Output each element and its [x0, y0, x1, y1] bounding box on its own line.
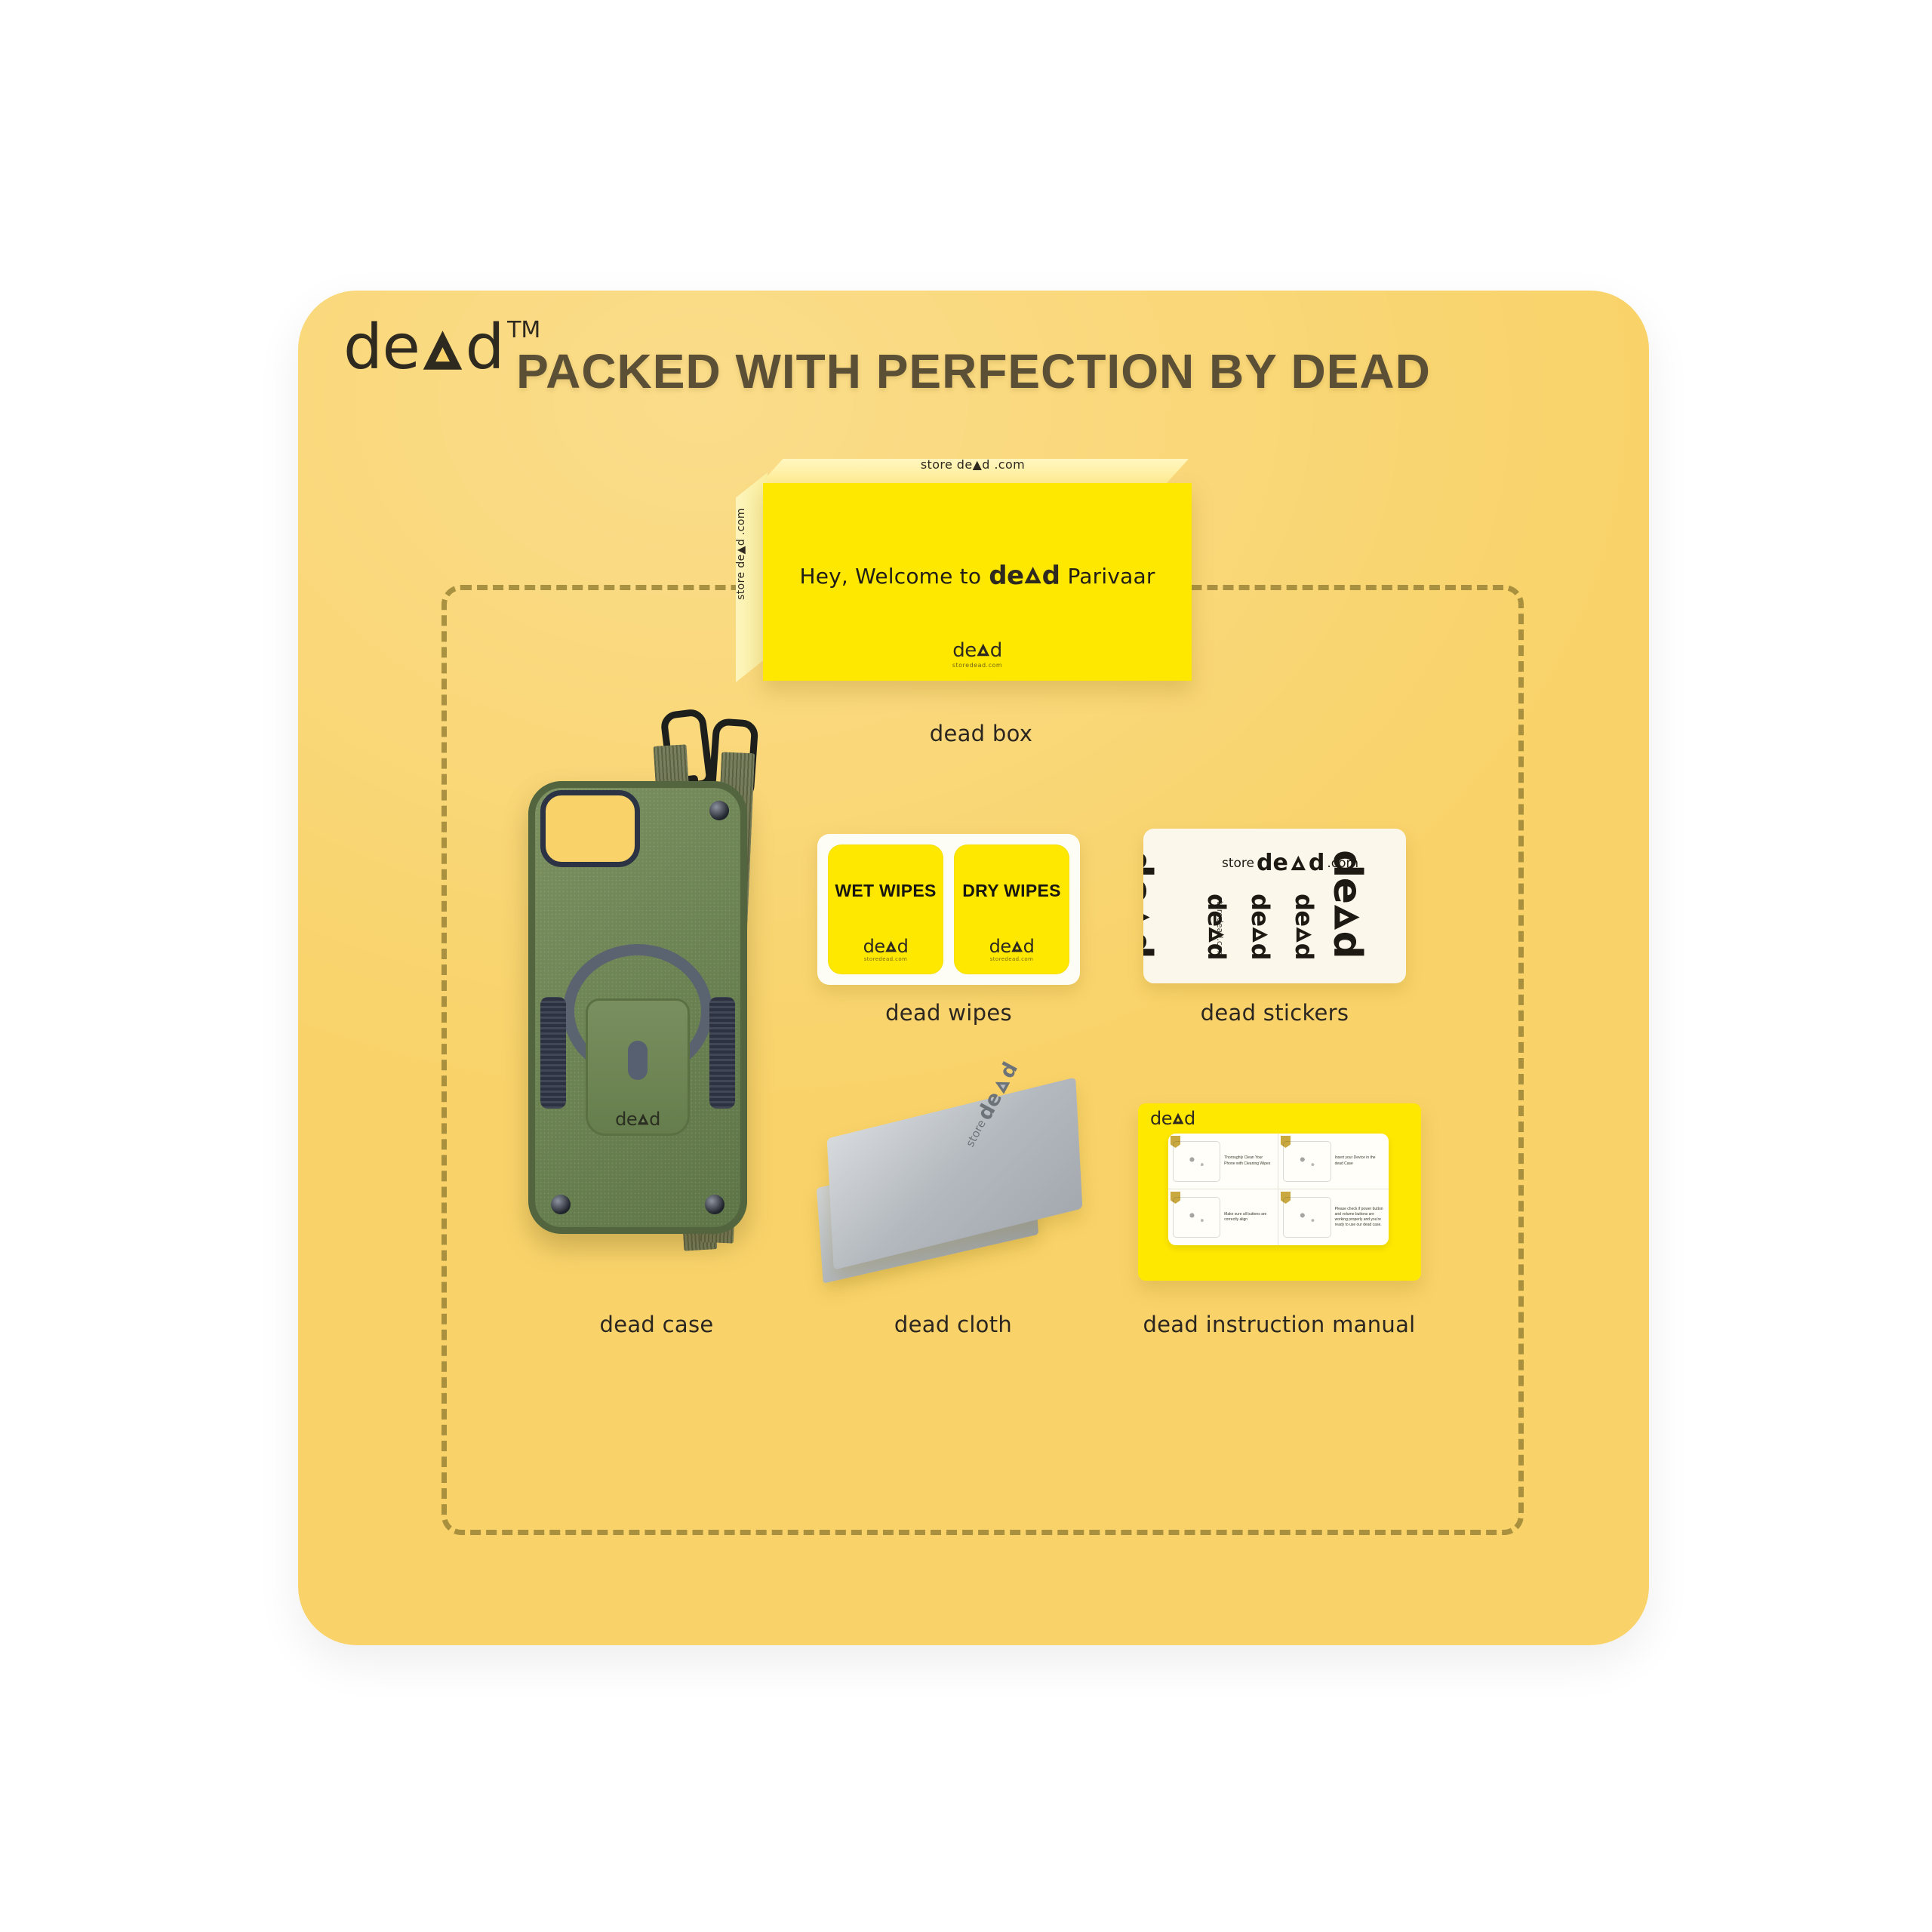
- corner-screw: [705, 1195, 724, 1214]
- kickstand-logo: de d: [586, 1110, 690, 1128]
- dead-case-illustration: BE LIKE BE YOURSELF de d: [521, 706, 808, 1302]
- grip-panel: [540, 997, 566, 1109]
- box-footer-logo: de d storedead.com: [763, 641, 1192, 669]
- step-illustration: [1283, 1141, 1331, 1182]
- box-message-after: Parivaar: [1067, 564, 1155, 589]
- box-message-before: Hey, Welcome to: [799, 564, 981, 589]
- wipes-logo-left: de: [863, 937, 885, 955]
- triangle-icon: [885, 940, 897, 952]
- triangle-icon: [1291, 855, 1306, 871]
- triangle-icon: [1172, 1112, 1184, 1124]
- step-text: Insert your Device in the dead Case: [1331, 1155, 1384, 1167]
- manual-steps-sheet: Thoroughly Clean Your Phone with Cleanin…: [1168, 1134, 1389, 1245]
- triangle-icon: [1011, 940, 1023, 952]
- wet-wipes-title: WET WIPES: [828, 881, 943, 901]
- manual-logo: de d: [1150, 1109, 1195, 1128]
- step-illustration: [1173, 1141, 1220, 1182]
- grip-panel: [709, 997, 735, 1109]
- box-footer-url: storedead.com: [763, 662, 1192, 669]
- triangle-icon: [977, 643, 990, 657]
- case-body: de d: [528, 781, 747, 1234]
- wipes-url: storedead.com: [954, 956, 1069, 962]
- wipes-logo-left: de: [989, 937, 1011, 955]
- sticker-logo-small: de d: [1290, 894, 1318, 960]
- box-logo-right: d: [1042, 563, 1060, 589]
- triangle-icon: [1296, 927, 1312, 943]
- dead-box-illustration: store de▲d .com store de▲d .com Hey, Wel…: [736, 459, 1204, 693]
- sticker-logo-large-left: de d: [1143, 850, 1160, 958]
- wipes-logo-right: d: [897, 937, 909, 955]
- caption-dead-instruction-manual: dead instruction manual: [1128, 1312, 1430, 1337]
- wet-wipes-packet: WET WIPES de d storedead.com: [828, 844, 943, 974]
- dry-wipes-logo: de d storedead.com: [954, 937, 1069, 962]
- box-top-url: store de▲d .com: [757, 457, 1189, 472]
- case-logo-left: de: [615, 1110, 637, 1128]
- manual-step: Make sure all buttons are correctly alig…: [1168, 1189, 1278, 1245]
- caption-dead-cloth: dead cloth: [802, 1312, 1104, 1337]
- manual-step: Please check if power button and volume …: [1278, 1189, 1389, 1245]
- wipes-url: storedead.com: [828, 956, 943, 962]
- triangle-icon: [1252, 927, 1269, 943]
- page-title: PACKED WITH PERFECTION BY DEAD: [298, 343, 1649, 399]
- manual-step: Thoroughly Clean Your Phone with Cleanin…: [1168, 1134, 1278, 1189]
- dead-stickers-illustration: de d de d de d de d de d store de d .com…: [1143, 829, 1406, 983]
- sticker-vertical-url: storedead.com: [1215, 897, 1225, 958]
- wet-wipes-logo: de d storedead.com: [828, 937, 943, 962]
- kickstand-slot: [628, 1041, 648, 1080]
- dead-instruction-manual-illustration: de d Thoroughly Clean Your Phone with Cl…: [1138, 1103, 1421, 1281]
- dead-wipes-illustration: WET WIPES de d storedead.com DRY WIPES d…: [817, 834, 1080, 985]
- kickstand: de d: [586, 998, 690, 1136]
- trademark-symbol: TM: [507, 317, 540, 343]
- corner-screw: [551, 1195, 571, 1214]
- case-logo-right: d: [649, 1110, 660, 1128]
- step-illustration: [1173, 1197, 1220, 1238]
- step-text: Make sure all buttons are correctly alig…: [1220, 1212, 1273, 1223]
- dry-wipes-title: DRY WIPES: [954, 881, 1069, 901]
- triangle-icon: [1143, 904, 1151, 931]
- sticker-url: store de d .com: [1222, 850, 1358, 876]
- box-logo-left: de: [989, 563, 1023, 589]
- box-footer-right: d: [990, 641, 1002, 660]
- camera-cutout: [540, 790, 640, 867]
- corner-screw: [709, 801, 729, 820]
- wipes-logo-right: d: [1023, 937, 1035, 955]
- step-illustration: [1283, 1197, 1331, 1238]
- caption-dead-stickers: dead stickers: [1124, 1000, 1426, 1026]
- box-side-url: store de▲d .com: [735, 508, 747, 600]
- manual-step: Insert your Device in the dead Case: [1278, 1134, 1389, 1189]
- triangle-icon: [637, 1113, 649, 1125]
- box-welcome-message: Hey, Welcome to de d Parivaar: [763, 563, 1192, 589]
- step-text: Thoroughly Clean Your Phone with Cleanin…: [1220, 1155, 1273, 1167]
- dry-wipes-packet: DRY WIPES de d storedead.com: [954, 844, 1069, 974]
- triangle-icon: [1024, 566, 1042, 584]
- box-front-face: Hey, Welcome to de d Parivaar de d store…: [763, 483, 1192, 681]
- sticker-logo-small: de d: [1246, 894, 1275, 960]
- dead-cloth-illustration: store de d: [814, 1098, 1093, 1287]
- caption-dead-case: dead case: [498, 1312, 815, 1337]
- caption-dead-box: dead box: [785, 721, 1177, 746]
- box-footer-left: de: [952, 641, 977, 660]
- step-text: Please check if power button and volume …: [1331, 1207, 1384, 1229]
- caption-dead-wipes: dead wipes: [798, 1000, 1100, 1026]
- triangle-icon: [1334, 904, 1361, 931]
